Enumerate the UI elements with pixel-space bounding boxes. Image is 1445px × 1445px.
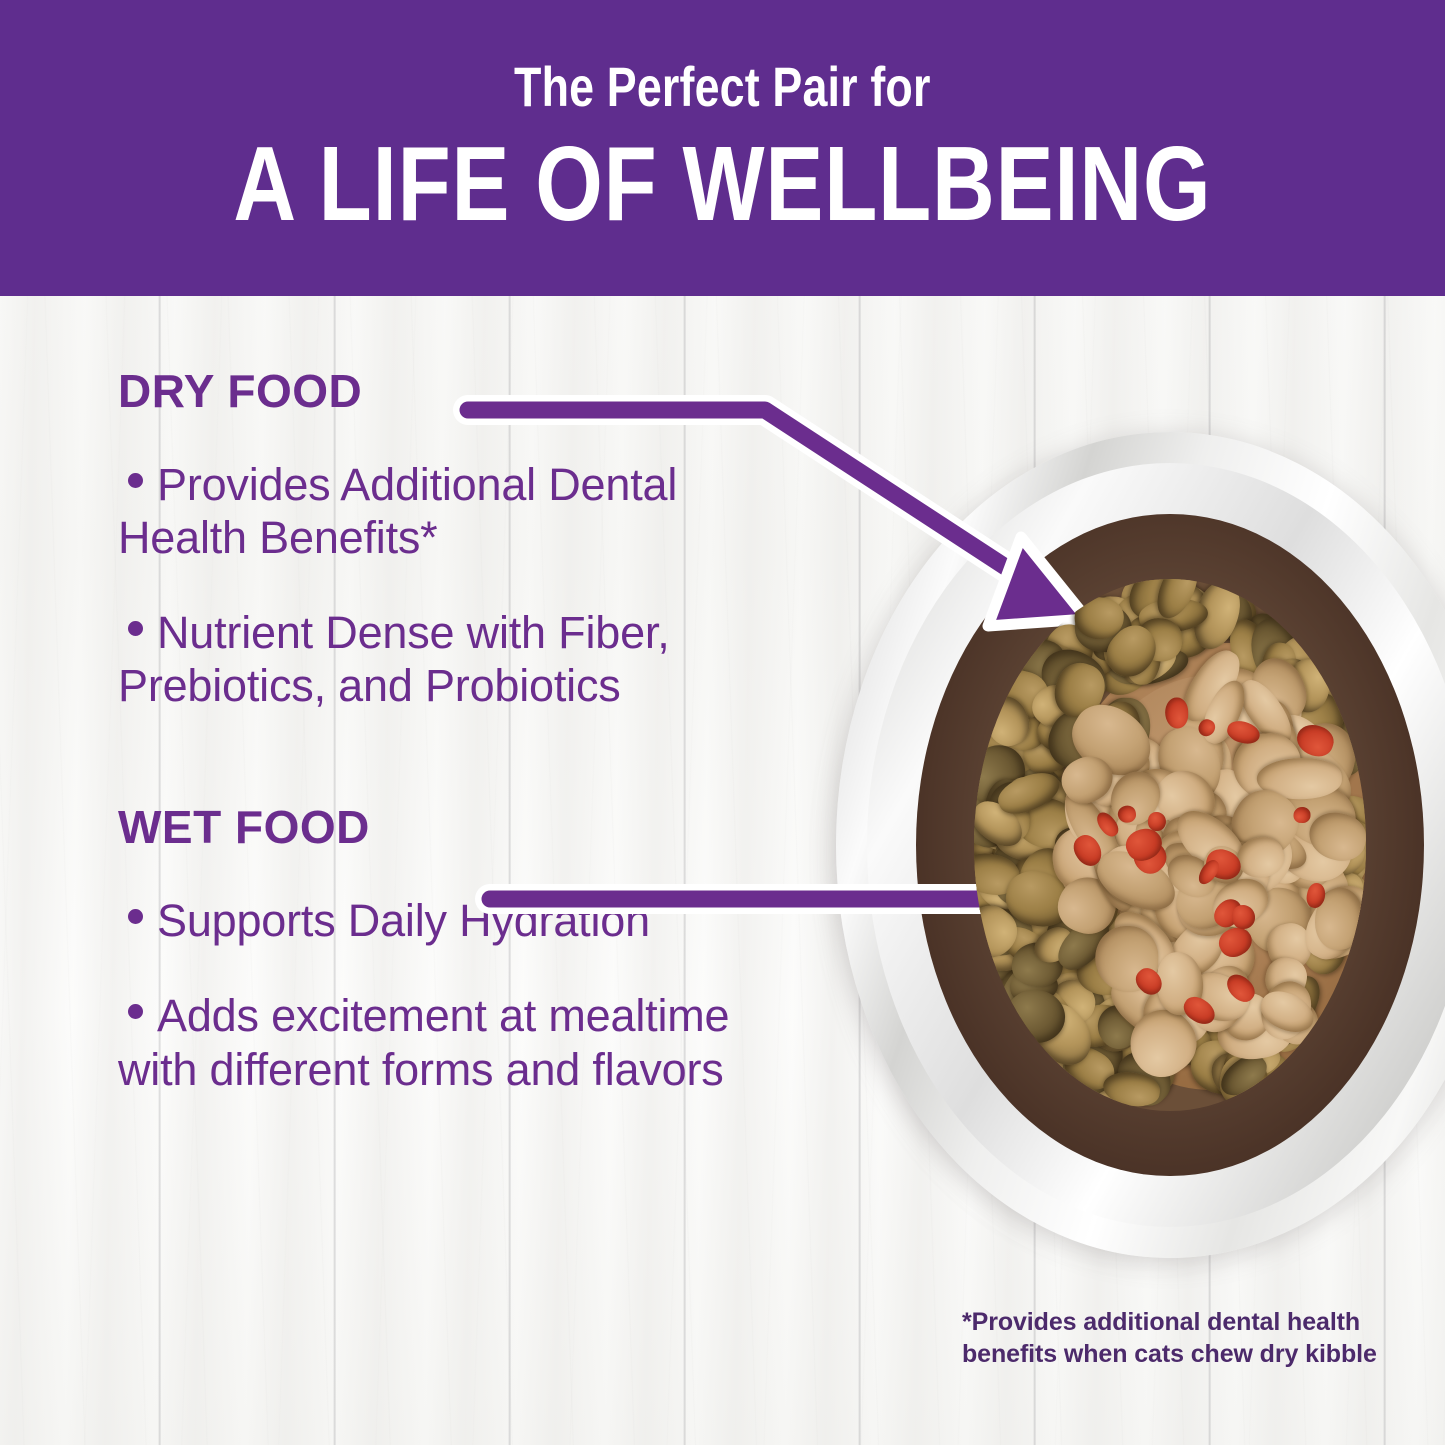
benefits-text-column: DRY FOOD Provides Additional Dental Heal… (118, 368, 818, 1096)
bullet-wet-food-2: Adds excitement at mealtime with differe… (118, 989, 758, 1095)
food-bowl-image (828, 428, 1445, 1268)
bullet-dot-icon (128, 621, 143, 636)
bowl-food-contents (974, 579, 1365, 1112)
bowl-inner-wall (916, 514, 1423, 1176)
bullet-text: Nutrient Dense with Fiber, Prebiotics, a… (118, 607, 670, 711)
bullet-dry-food-1: Provides Additional Dental Health Benefi… (118, 458, 758, 564)
section-heading-wet-food: WET FOOD (118, 804, 818, 850)
red-vegetable-bit (1165, 698, 1188, 729)
header-band: The Perfect Pair for A LIFE OF WELLBEING (0, 0, 1445, 296)
bullet-dot-icon (128, 1004, 143, 1019)
bullet-dot-icon (128, 473, 143, 488)
header-subtitle: The Perfect Pair for (514, 59, 930, 115)
bullet-dry-food-2: Nutrient Dense with Fiber, Prebiotics, a… (118, 606, 758, 712)
bullet-text: Supports Daily Hydration (157, 895, 650, 946)
bullet-text: Adds excitement at mealtime with differe… (118, 990, 729, 1094)
bowl-inner-rim (867, 463, 1445, 1226)
infographic-canvas: The Perfect Pair for A LIFE OF WELLBEING… (0, 0, 1445, 1445)
footnote-text: *Provides additional dental health benef… (962, 1306, 1382, 1370)
bullet-dot-icon (128, 909, 143, 924)
header-title: A LIFE OF WELLBEING (233, 131, 1211, 237)
bullet-text: Provides Additional Dental Health Benefi… (118, 459, 677, 563)
bullet-wet-food-1: Supports Daily Hydration (118, 894, 758, 947)
section-heading-dry-food: DRY FOOD (118, 368, 818, 414)
red-vegetable-bit (1230, 904, 1255, 930)
bowl-outer-rim (836, 432, 1445, 1258)
